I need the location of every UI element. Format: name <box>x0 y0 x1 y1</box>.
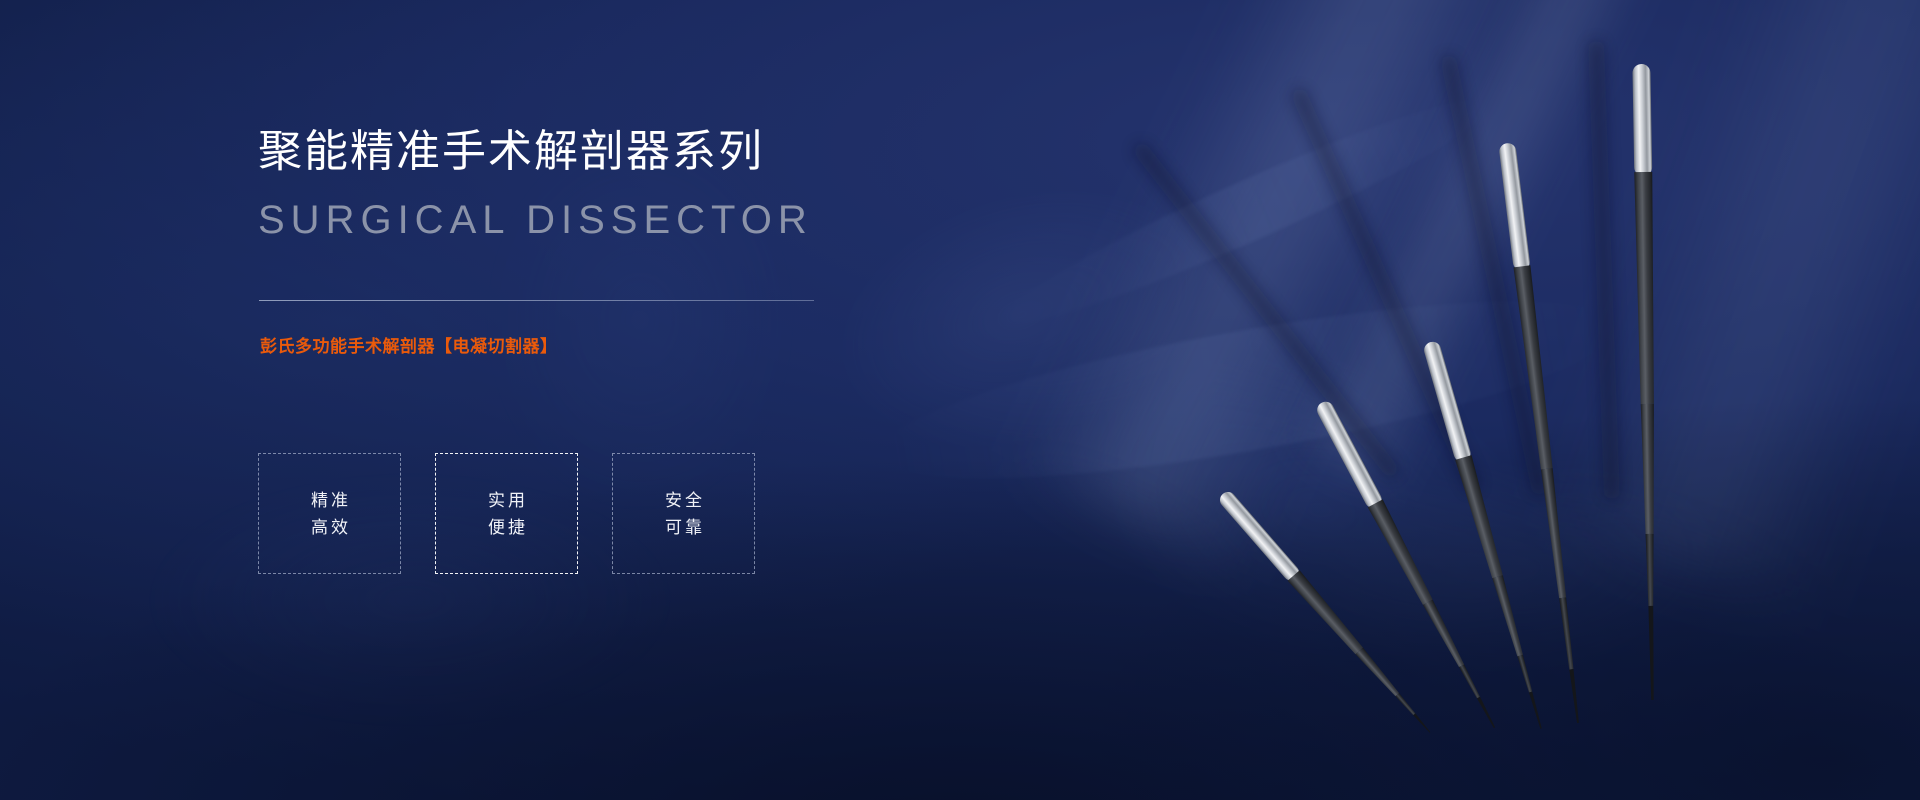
hero-text-block: 聚能精准手术解剖器系列 SURGICAL DISSECTOR 彭氏多功能手术解剖… <box>258 0 1018 800</box>
feature-badge-list: 精准 高效 实用 便捷 安全 可靠 <box>258 453 755 574</box>
feature-badge-line2: 高效 <box>308 519 351 536</box>
page-subtitle-en: SURGICAL DISSECTOR <box>258 198 813 242</box>
feature-badge-line2: 便捷 <box>485 519 528 536</box>
product-name-label: 彭氏多功能手术解剖器【电凝切割器】 <box>260 336 558 358</box>
feature-badge-line1: 安全 <box>662 492 705 509</box>
divider <box>259 300 814 301</box>
page-title: 聚能精准手术解剖器系列 <box>258 128 764 176</box>
feature-badge-line1: 精准 <box>308 492 351 509</box>
feature-badge-practical[interactable]: 实用 便捷 <box>435 453 578 574</box>
hero-banner: 聚能精准手术解剖器系列 SURGICAL DISSECTOR 彭氏多功能手术解剖… <box>0 0 1920 800</box>
feature-badge-precision[interactable]: 精准 高效 <box>258 453 401 574</box>
feature-badge-safety[interactable]: 安全 可靠 <box>612 453 755 574</box>
feature-badge-line2: 可靠 <box>662 519 705 536</box>
feature-badge-line1: 实用 <box>485 492 528 509</box>
